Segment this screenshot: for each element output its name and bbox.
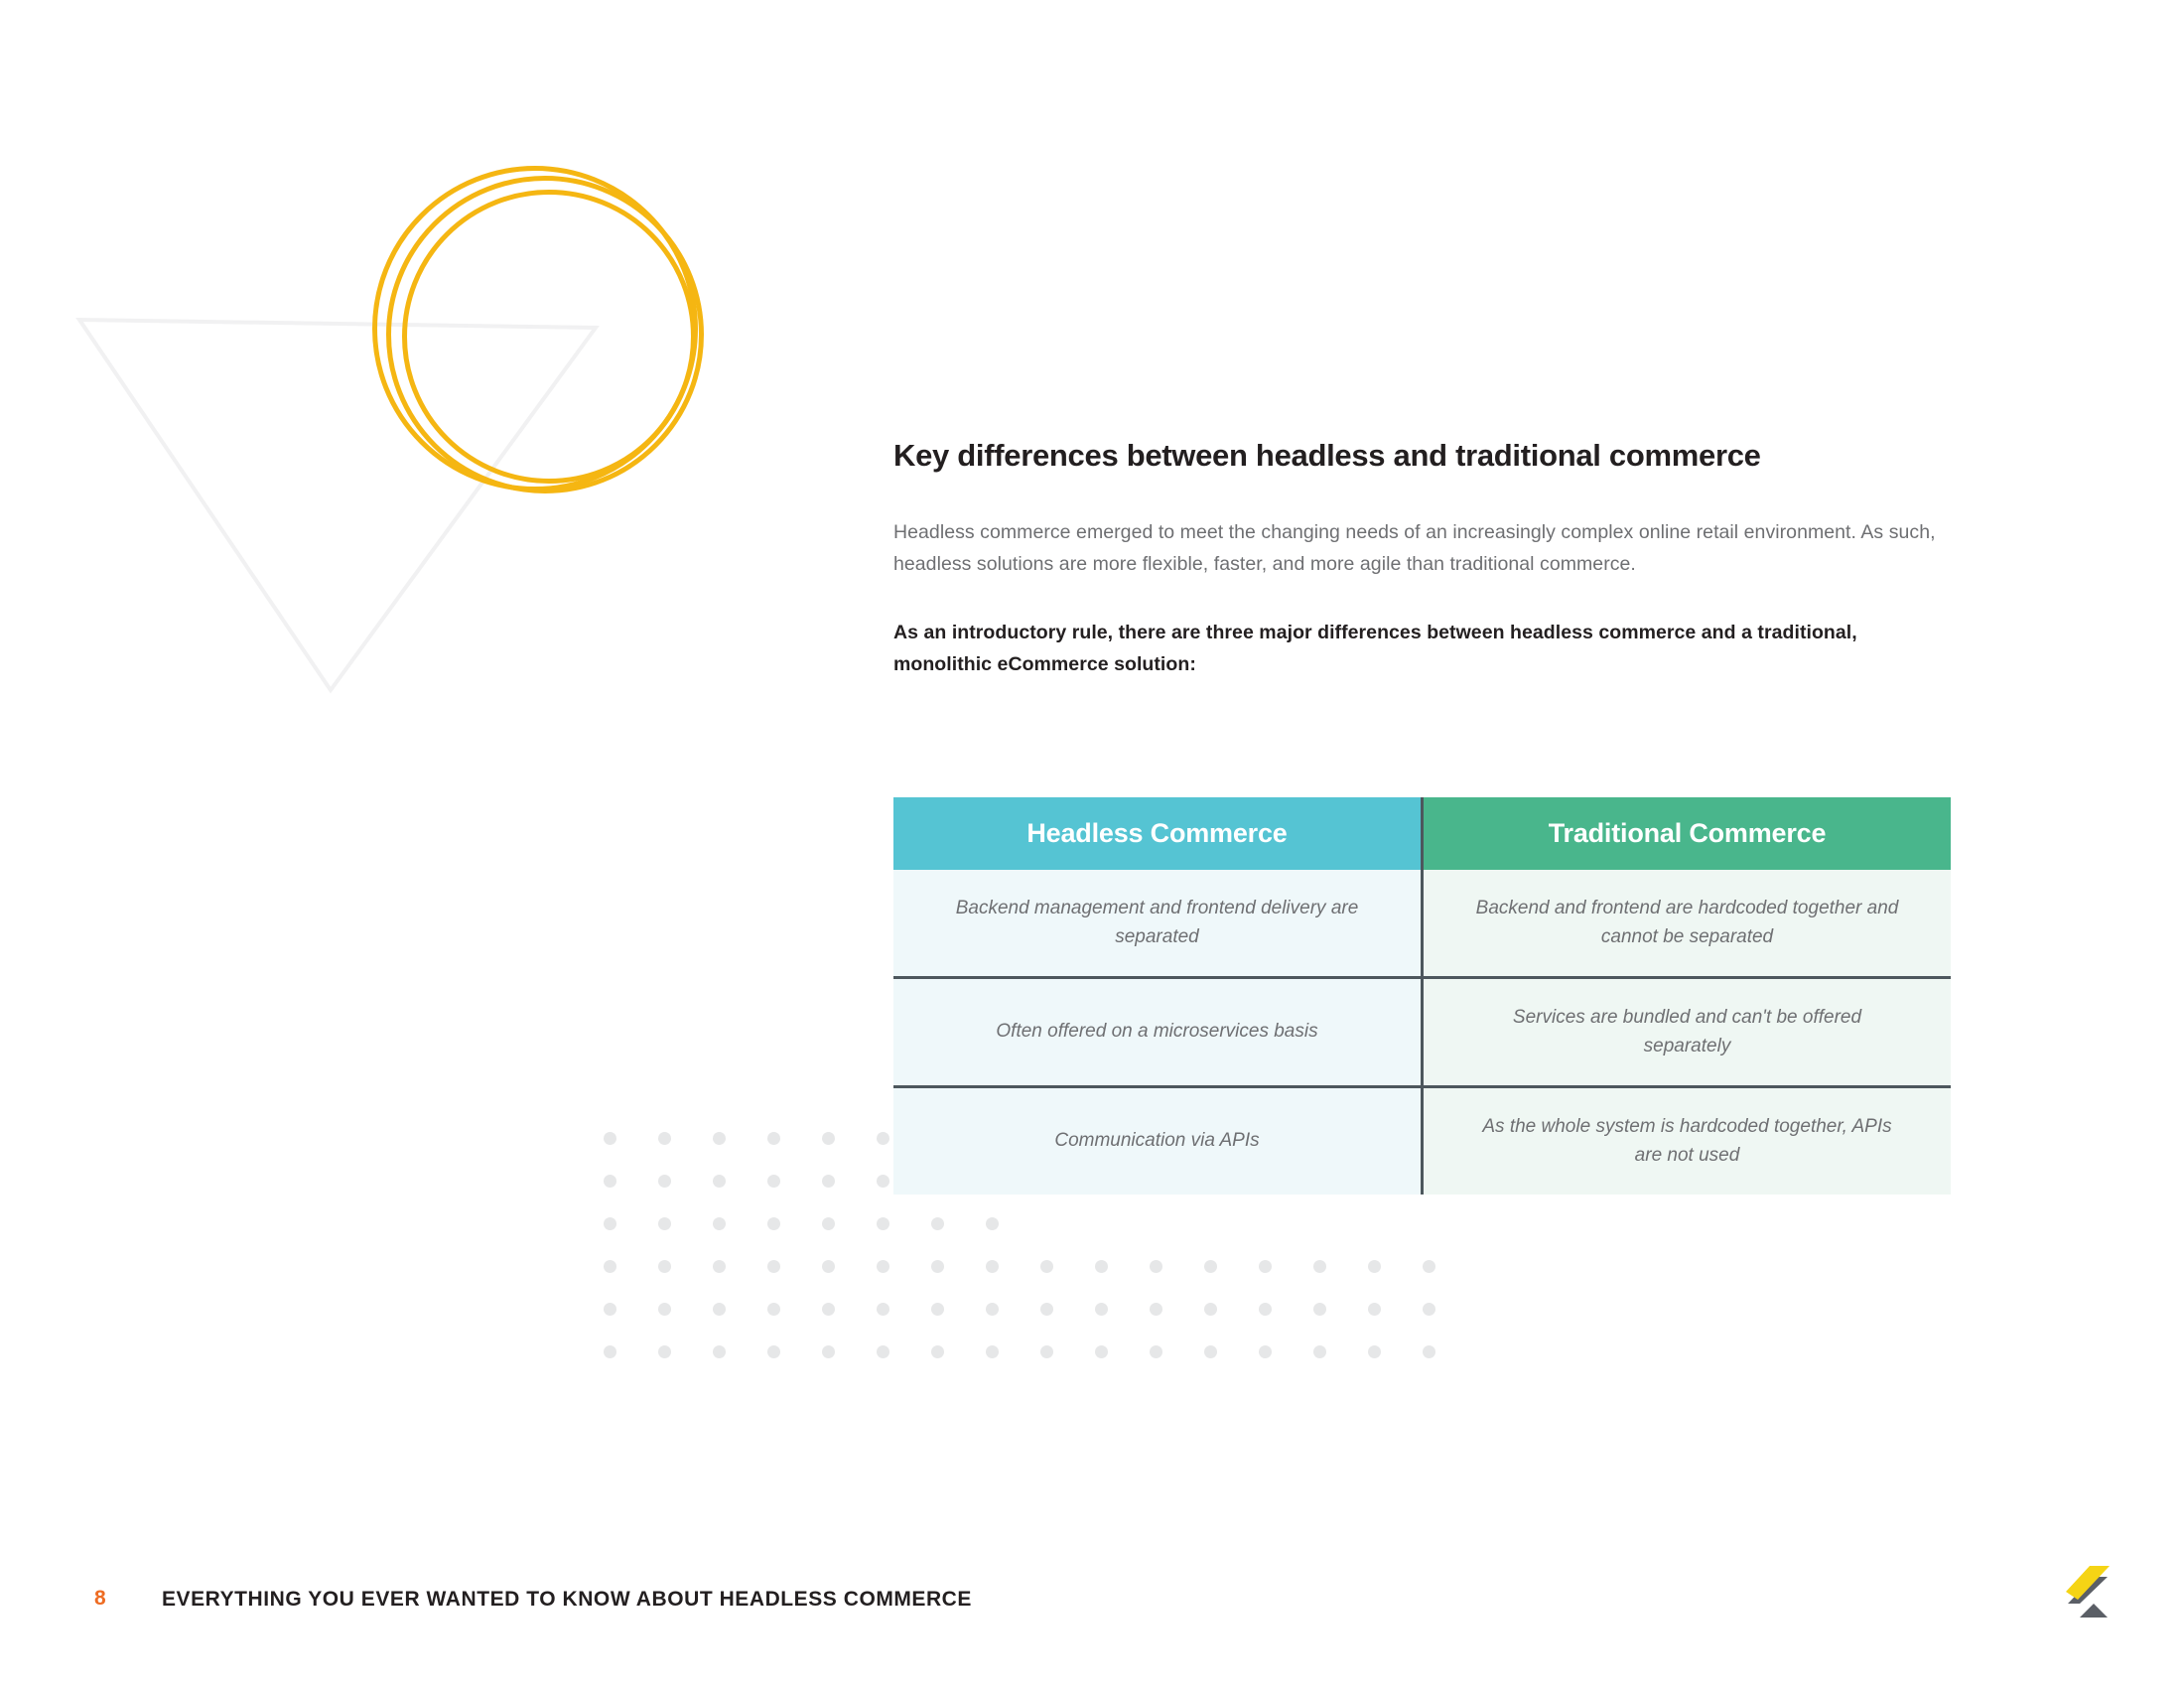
- grid-dot: [1204, 1260, 1217, 1273]
- grid-dot: [767, 1175, 780, 1188]
- grid-dot: [604, 1217, 616, 1230]
- grid-dot: [931, 1345, 944, 1358]
- grid-dot: [877, 1345, 889, 1358]
- grid-dot: [986, 1217, 999, 1230]
- grid-dot: [877, 1303, 889, 1316]
- grid-dot: [1150, 1345, 1162, 1358]
- grid-dot: [713, 1132, 726, 1145]
- dot-grid-row: [604, 1217, 1477, 1260]
- grid-dot: [604, 1132, 616, 1145]
- grid-dot: [658, 1345, 671, 1358]
- grid-dot: [767, 1132, 780, 1145]
- table-header-row: Headless Commerce Traditional Commerce: [893, 797, 1951, 870]
- grid-dot: [604, 1260, 616, 1273]
- grid-dot: [1150, 1260, 1162, 1273]
- grid-dot: [1313, 1260, 1326, 1273]
- document-page: Key differences between headless and tra…: [0, 0, 2184, 1688]
- grid-dot: [877, 1175, 889, 1188]
- page-footer: 8 EVERYTHING YOU EVER WANTED TO KNOW ABO…: [0, 1574, 2184, 1633]
- grid-dot: [1040, 1303, 1053, 1316]
- grid-dot: [658, 1175, 671, 1188]
- grid-dot: [658, 1132, 671, 1145]
- grid-dot: [767, 1260, 780, 1273]
- ring-middle: [386, 176, 704, 493]
- grid-dot: [986, 1345, 999, 1358]
- grid-dot: [822, 1132, 835, 1145]
- dot-grid-row: [604, 1303, 1477, 1345]
- page-title: Key differences between headless and tra…: [893, 437, 1951, 474]
- grid-dot: [658, 1217, 671, 1230]
- column-header-traditional: Traditional Commerce: [1423, 797, 1952, 870]
- grid-dot: [604, 1303, 616, 1316]
- grid-dot: [1259, 1260, 1272, 1273]
- grid-dot: [713, 1217, 726, 1230]
- grid-dot: [1259, 1303, 1272, 1316]
- grid-dot: [986, 1303, 999, 1316]
- intro-paragraph: Headless commerce emerged to meet the ch…: [893, 517, 1951, 580]
- page-number: 8: [94, 1587, 106, 1611]
- grid-dot: [713, 1345, 726, 1358]
- table-row: Communication via APIs As the whole syst…: [893, 1087, 1951, 1196]
- table-row: Backend management and frontend delivery…: [893, 870, 1951, 978]
- grid-dot: [1150, 1303, 1162, 1316]
- column-header-headless: Headless Commerce: [893, 797, 1423, 870]
- grid-dot: [604, 1345, 616, 1358]
- cell-headless: Backend management and frontend delivery…: [893, 870, 1423, 978]
- concentric-rings-decoration: [372, 154, 720, 506]
- grid-dot: [1423, 1303, 1435, 1316]
- grid-dot: [931, 1303, 944, 1316]
- grid-dot: [1368, 1345, 1381, 1358]
- grid-dot: [1259, 1345, 1272, 1358]
- grid-dot: [1095, 1303, 1108, 1316]
- grid-dot: [822, 1345, 835, 1358]
- content-column: Key differences between headless and tra…: [893, 437, 1951, 681]
- grid-dot: [877, 1260, 889, 1273]
- brand-logo-icon: [2060, 1562, 2119, 1623]
- grid-dot: [604, 1175, 616, 1188]
- comparison-table: Headless Commerce Traditional Commerce B…: [893, 797, 1951, 1195]
- grid-dot: [1095, 1345, 1108, 1358]
- grid-dot: [1204, 1345, 1217, 1358]
- grid-dot: [1040, 1345, 1053, 1358]
- cell-headless: Often offered on a microservices basis: [893, 978, 1423, 1087]
- lead-in-paragraph: As an introductory rule, there are three…: [893, 618, 1951, 680]
- cell-traditional: Backend and frontend are hardcoded toget…: [1423, 870, 1952, 978]
- footer-title: EVERYTHING YOU EVER WANTED TO KNOW ABOUT…: [162, 1588, 972, 1612]
- dot-grid-row: [604, 1345, 1477, 1388]
- ring-outer: [372, 166, 698, 492]
- cell-headless: Communication via APIs: [893, 1087, 1423, 1196]
- grid-dot: [1423, 1260, 1435, 1273]
- grid-dot: [822, 1175, 835, 1188]
- grid-dot: [1313, 1303, 1326, 1316]
- grid-dot: [931, 1260, 944, 1273]
- triangle-outline-decoration: [74, 298, 601, 695]
- grid-dot: [822, 1217, 835, 1230]
- grid-dot: [1368, 1303, 1381, 1316]
- ring-inner: [402, 190, 696, 484]
- grid-dot: [1423, 1345, 1435, 1358]
- dot-grid-row: [604, 1260, 1477, 1303]
- table-row: Often offered on a microservices basis S…: [893, 978, 1951, 1087]
- grid-dot: [658, 1303, 671, 1316]
- grid-dot: [767, 1217, 780, 1230]
- grid-dot: [931, 1217, 944, 1230]
- grid-dot: [877, 1132, 889, 1145]
- grid-dot: [986, 1260, 999, 1273]
- grid-dot: [1368, 1260, 1381, 1273]
- grid-dot: [1095, 1260, 1108, 1273]
- grid-dot: [1313, 1345, 1326, 1358]
- grid-dot: [1040, 1260, 1053, 1273]
- cell-traditional: Services are bundled and can't be offere…: [1423, 978, 1952, 1087]
- grid-dot: [822, 1260, 835, 1273]
- grid-dot: [822, 1303, 835, 1316]
- grid-dot: [767, 1303, 780, 1316]
- grid-dot: [713, 1303, 726, 1316]
- cell-traditional: As the whole system is hardcoded togethe…: [1423, 1087, 1952, 1196]
- grid-dot: [1204, 1303, 1217, 1316]
- grid-dot: [658, 1260, 671, 1273]
- grid-dot: [767, 1345, 780, 1358]
- grid-dot: [877, 1217, 889, 1230]
- grid-dot: [713, 1175, 726, 1188]
- grid-dot: [713, 1260, 726, 1273]
